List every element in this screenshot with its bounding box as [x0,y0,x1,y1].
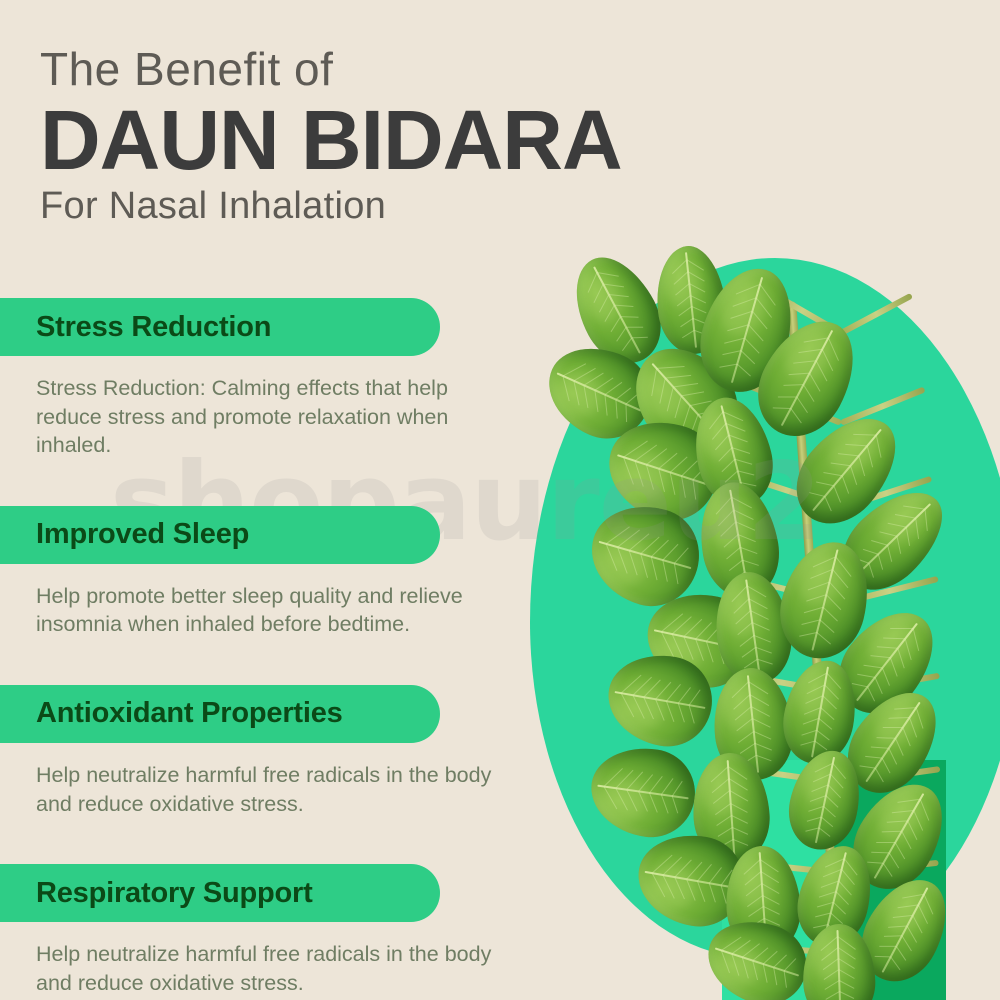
benefit-pill-1: Stress Reduction [0,298,440,356]
leaf-veins [601,647,719,754]
benefit-pill-4: Respiratory Support [0,864,440,922]
title-subtitle: For Nasal Inhalation [40,186,940,228]
benefit-label-1: Stress Reduction [36,313,271,342]
benefits-list: Stress Reduction Stress Reduction: Calmi… [0,298,520,997]
leaf [601,647,719,754]
infographic-canvas: shopaureu2 The Benefit of DAUN BIDARA Fo… [0,0,1000,1000]
benefit-label-2: Improved Sleep [36,520,249,549]
benefit-label-4: Respiratory Support [36,879,313,908]
leaf [801,923,876,1000]
spacer-2 [0,639,520,685]
benefit-pill-3: Antioxidant Properties [0,685,440,743]
title-kicker: The Benefit of [40,46,940,92]
page-title: The Benefit of DAUN BIDARA For Nasal Inh… [40,46,940,227]
leaf-veins [801,923,876,1000]
benefit-item-stress-reduction: Stress Reduction Stress Reduction: Calmi… [0,298,520,460]
benefit-pill-2: Improved Sleep [0,506,440,564]
benefit-description-3: Help neutralize harmful free radicals in… [36,761,506,818]
leaf-veins [585,741,700,843]
benefit-label-3: Antioxidant Properties [36,699,343,728]
benefit-item-improved-sleep: Improved Sleep Help promote better sleep… [0,506,520,639]
benefit-description-2: Help promote better sleep quality and re… [36,582,506,639]
leaf [585,741,700,843]
title-main: DAUN BIDARA [40,98,940,184]
spacer-3 [0,818,520,864]
benefit-item-antioxidant-properties: Antioxidant Properties Help neutralize h… [0,685,520,818]
spacer-1 [0,460,520,506]
benefit-item-respiratory-support: Respiratory Support Help neutralize harm… [0,864,520,997]
benefit-description-4: Help neutralize harmful free radicals in… [36,940,506,997]
benefit-description-1: Stress Reduction: Calming effects that h… [36,374,506,460]
